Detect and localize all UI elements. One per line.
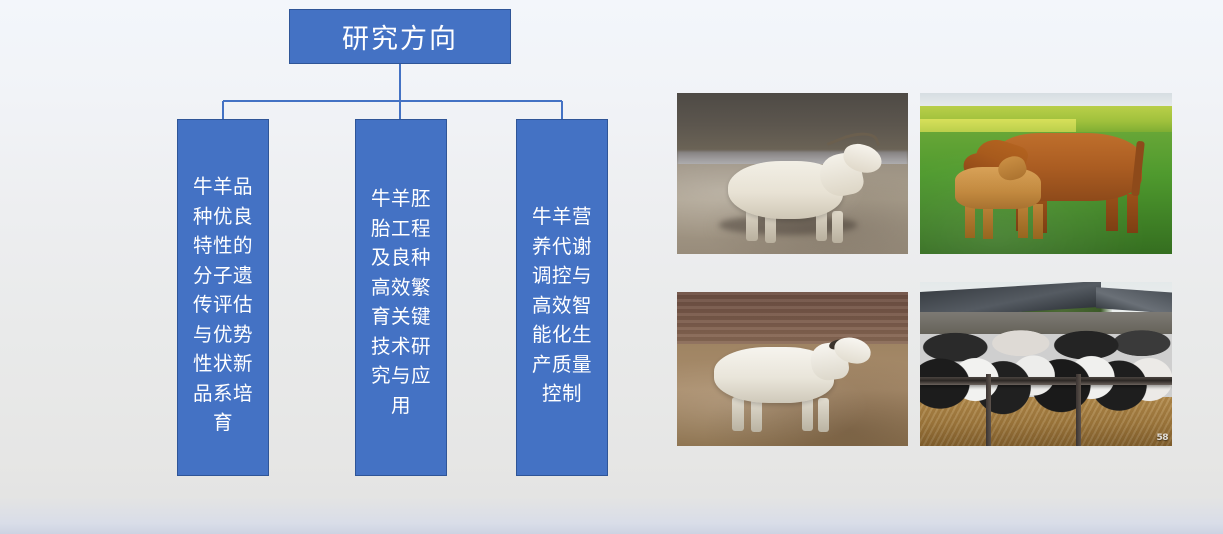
cow-leg [1127,194,1138,233]
branch-label-1: 牛羊品种优良特性的分子遗传评估与优势性状新品系培育 [187,172,259,438]
feed-rail [920,377,1172,385]
slide-canvas: 研究方向 牛羊品种优良特性的分子遗传评估与优势性状新品系培育 牛羊胚胎工程及良种… [0,0,1223,534]
sheep-leg [802,397,814,431]
holstein-dairy-herd-photo: 58 [920,282,1172,446]
sheep-leg [818,398,830,432]
dairy-barn-scene: 58 [920,282,1172,446]
branch-label-3: 牛羊营养代谢调控与高效智能化生产质量控制 [526,202,598,409]
white-sheep-in-pen-photo [677,292,908,446]
branch-box-1[interactable]: 牛羊品种优良特性的分子遗传评估与优势性状新品系培育 [177,119,269,476]
sheep-leg [732,397,744,431]
goat-leg [832,211,844,243]
diagram-title-label: 研究方向 [342,17,458,56]
photo-watermark: 58 [1156,433,1168,443]
sheep-leg [751,398,763,432]
diagram-title-box[interactable]: 研究方向 [289,9,511,64]
pasture-scene [920,93,1172,254]
calf-leg [1033,204,1043,239]
brown-cow-with-calf-photo [920,93,1172,254]
goat-scene [677,93,908,254]
feed-rail-post [986,374,991,446]
branch-box-3[interactable]: 牛羊营养代谢调控与高效智能化生产质量控制 [516,119,608,476]
branch-box-2[interactable]: 牛羊胚胎工程及良种高效繁育关键技术研究与应用 [355,119,447,476]
pen-brick-wall [677,292,908,344]
holstein-cow-herd [920,325,1172,427]
white-cashmere-goat-photo [677,93,908,254]
branch-label-2: 牛羊胚胎工程及良种高效繁育关键技术研究与应用 [365,184,437,420]
feed-rail-post [1076,374,1081,446]
calf-leg [983,204,993,239]
sheep-pen-scene [677,292,908,446]
